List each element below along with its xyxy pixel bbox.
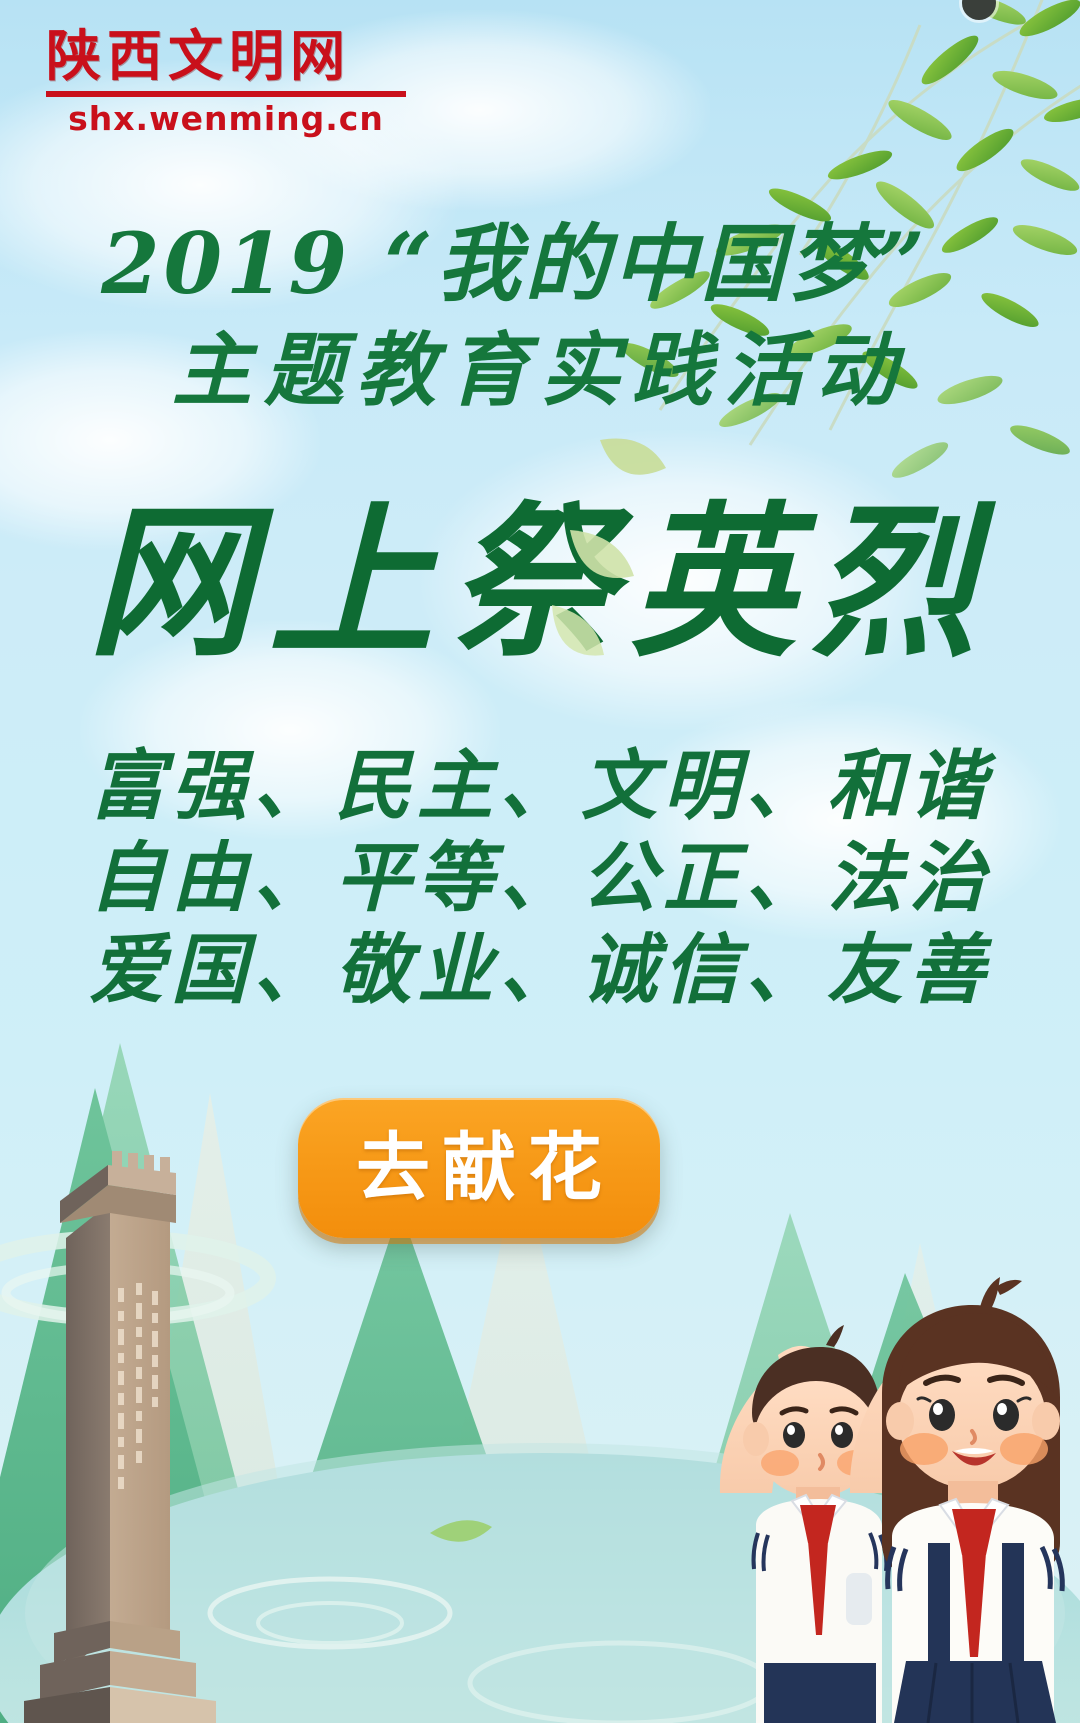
subtitle-line-1: 2019 “我的中国梦” <box>0 222 1030 306</box>
cloud-shape <box>0 330 320 550</box>
core-values-line-2: 自由、平等、公正、法治 <box>0 840 1080 916</box>
offer-flowers-button[interactable]: 去献花 <box>298 1098 660 1238</box>
student-girl <box>850 1277 1062 1723</box>
logo-url: shx.wenming.cn <box>46 99 406 138</box>
cloud-shape <box>420 430 940 730</box>
cloud-shape <box>80 620 500 840</box>
status-dot-icon <box>962 0 996 20</box>
cloud-shape <box>620 700 1060 940</box>
green-mountains <box>0 823 1080 1723</box>
logo-site-name: 陕西文明网 <box>46 24 426 87</box>
student-boy <box>720 1325 886 1723</box>
subtitle-line-2: 主题教育实践活动 <box>0 330 1080 410</box>
willow-branches <box>450 0 1080 550</box>
poster-root: 陕西文明网 shx.wenming.cn 2019 “我的中国梦” 主题教育实践… <box>0 0 1080 1723</box>
site-logo[interactable]: 陕西文明网 shx.wenming.cn <box>46 24 426 138</box>
cta-container: 去献花 <box>298 1098 660 1238</box>
core-values-block: 富强、民主、文明、和谐 自由、平等、公正、法治 爱国、敬业、诚信、友善 <box>0 748 1080 1024</box>
saluting-students <box>660 1243 1080 1723</box>
core-values-line-1: 富强、民主、文明、和谐 <box>0 748 1080 824</box>
core-values-line-3: 爱国、敬业、诚信、友善 <box>0 932 1080 1008</box>
falling-leaf-icon <box>540 430 720 660</box>
logo-divider <box>46 91 406 97</box>
martyrs-memorial-monument <box>18 1073 278 1723</box>
page-title: 网上祭英烈 <box>0 500 1080 665</box>
offer-flowers-button-label: 去献花 <box>344 1131 614 1205</box>
